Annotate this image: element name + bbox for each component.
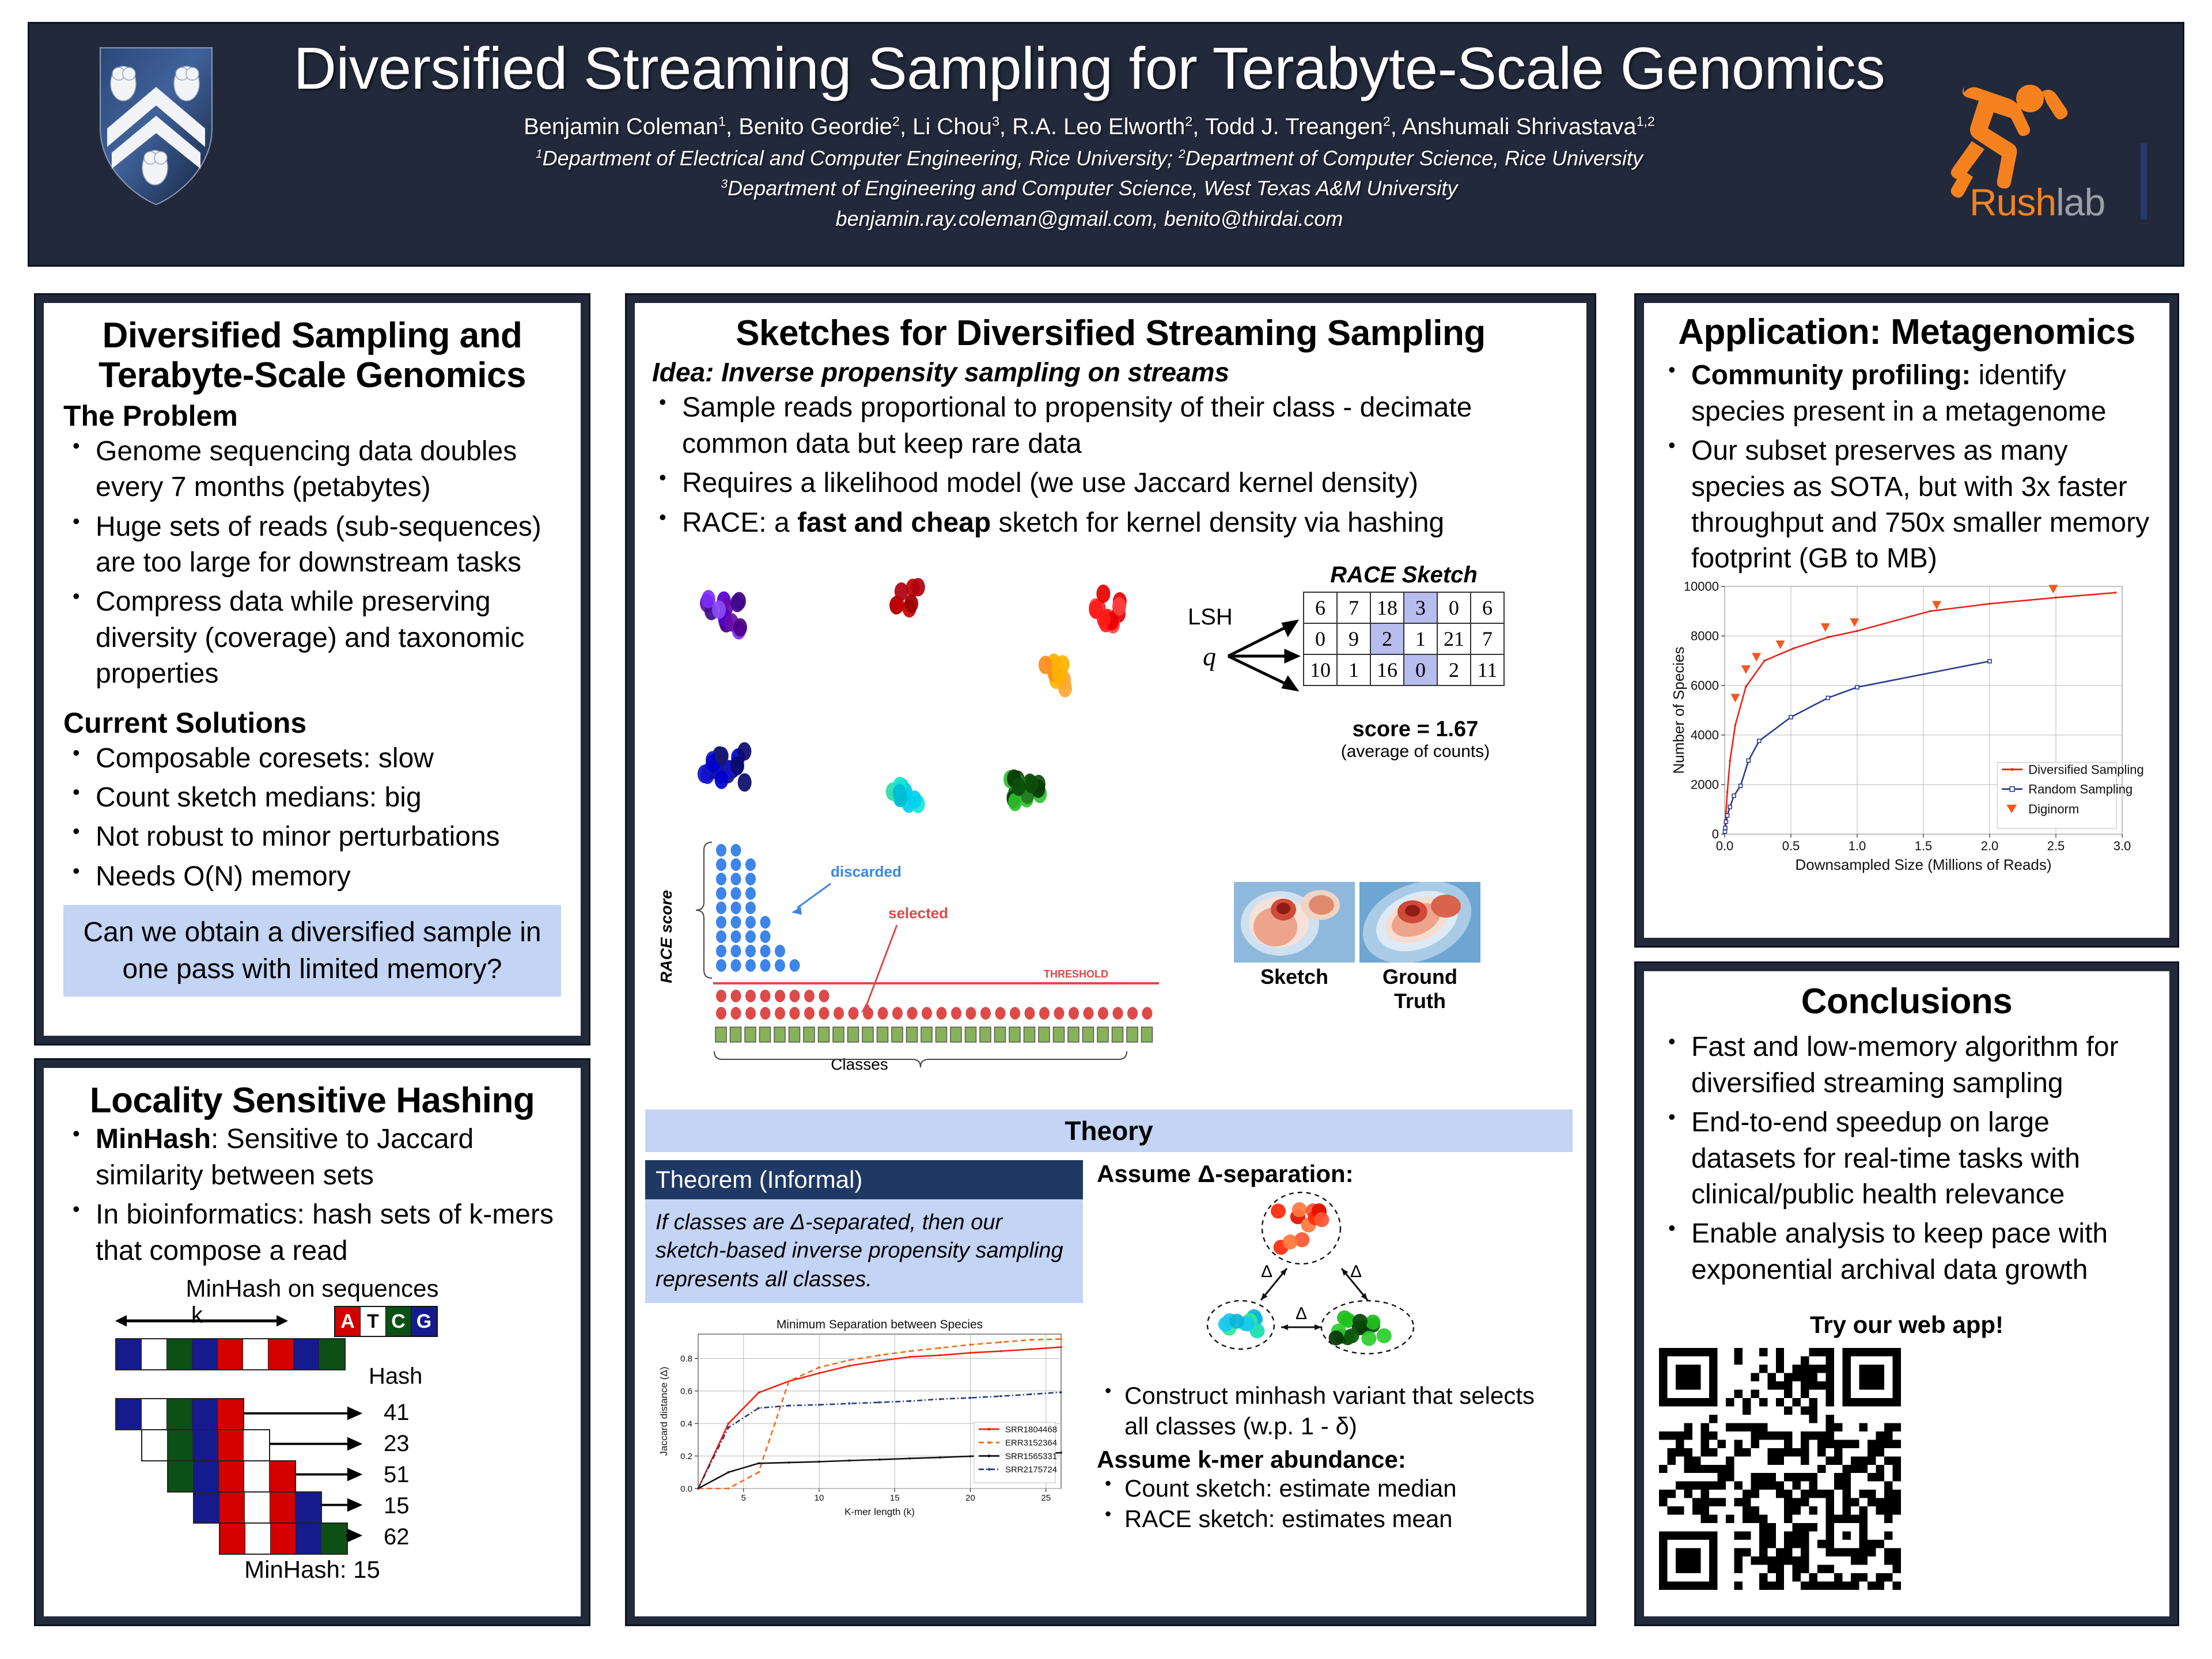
discarded-point (731, 930, 741, 943)
discarded-point (716, 887, 726, 900)
hash-value: 51 (384, 1462, 410, 1488)
race-sketch-figure: RACE Sketch LSH q 6718306092121710116021… (1188, 562, 1556, 762)
nucleotide-g: G (411, 1307, 437, 1336)
discarded-point (716, 844, 726, 857)
table-cell: 3 (1404, 592, 1437, 623)
cluster-point (715, 747, 729, 765)
svg-text:25: 25 (1041, 1493, 1051, 1503)
selected-label: selected (888, 904, 948, 922)
class-marker (819, 1027, 829, 1042)
class-marker (760, 1027, 771, 1042)
cluster-point (1112, 597, 1126, 616)
cluster-point (1229, 1314, 1244, 1329)
y-brace (696, 842, 712, 978)
list-item: Enable analysis to keep pace with expone… (1659, 1216, 2154, 1288)
discarded-point (745, 930, 756, 943)
selected-point (1127, 1007, 1138, 1020)
selected-point (819, 990, 829, 1002)
svg-text:10000: 10000 (1684, 579, 1719, 594)
panel-conclusions: Conclusions Fast and low-memory algorith… (1636, 963, 2177, 1624)
svg-text:0.0: 0.0 (680, 1484, 692, 1494)
discarded-point (760, 916, 771, 929)
table-cell: 10 (1304, 654, 1337, 685)
sketches-idea: Idea: Inverse propensity sampling on str… (652, 357, 1571, 388)
cluster-point (738, 773, 752, 791)
class-marker (715, 1027, 726, 1042)
assume-separation-heading: Assume Δ-separation: (1097, 1160, 1563, 1188)
discarded-label: discarded (831, 863, 902, 880)
class-marker (833, 1027, 844, 1042)
x-brace (714, 1051, 1127, 1067)
svg-text:SRR1804468: SRR1804468 (1005, 1425, 1057, 1435)
discarded-point (775, 945, 785, 957)
hash-value: 23 (384, 1431, 410, 1457)
selected-point (804, 990, 815, 1002)
svg-text:0.4: 0.4 (680, 1419, 692, 1429)
class-marker (745, 1027, 756, 1042)
hash-value: 41 (384, 1400, 410, 1426)
rushlab-wordmark: Rushlab (1969, 180, 2105, 224)
class-marker (862, 1027, 873, 1042)
selected-point (775, 1007, 785, 1020)
class-marker (1054, 1027, 1065, 1042)
svg-text:20: 20 (965, 1493, 975, 1503)
species-vs-downsample-chart: 0.00.51.01.52.02.53.00200040006000800010… (1661, 574, 2151, 893)
list-item: Sample reads proportional to propensity … (650, 390, 1571, 462)
theory-section: Theory Theorem (Informal) If classes are… (645, 1109, 1573, 1542)
svg-text:Diversified Sampling: Diversified Sampling (2028, 763, 2144, 777)
metagenomics-bullets: Community profiling: identify species pr… (1659, 358, 2154, 577)
table-cell: 6 (1471, 592, 1504, 623)
discarded-point (745, 873, 756, 885)
table-row: 0921217 (1304, 623, 1504, 654)
qr-title: Try our web app! (1659, 1311, 2154, 1339)
list-item: Composable coresets: slow (63, 741, 561, 777)
discarded-point (716, 873, 726, 885)
svg-text:Minimum Separation between Spe: Minimum Separation between Species (777, 1318, 983, 1331)
discarded-point (745, 916, 756, 929)
svg-text:2000: 2000 (1691, 778, 1719, 792)
list-item: End-to-end speedup on large datasets for… (1659, 1105, 2154, 1213)
cluster-point (1097, 610, 1111, 628)
svg-text:5: 5 (741, 1493, 746, 1503)
list-item: Community profiling: identify species pr… (1659, 358, 2154, 430)
cluster-point (730, 756, 744, 775)
table-row: 101160211 (1304, 654, 1504, 685)
web-app-qr-code[interactable] (1659, 1348, 1901, 1590)
nucleotide-t: T (361, 1307, 386, 1336)
kmer-window (141, 1429, 270, 1461)
discarded-point (745, 902, 756, 914)
minhash-result: MinHash: 15 (63, 1556, 561, 1584)
hash-value: 15 (384, 1493, 410, 1519)
selected-point (1069, 1007, 1079, 1020)
discarded-point (775, 959, 785, 972)
discarded-point (716, 916, 726, 929)
selected-point (878, 1007, 888, 1020)
panel-metagenomics: Application: Metagenomics Community prof… (1636, 295, 2177, 946)
class-marker (848, 1027, 859, 1042)
kmer-window (193, 1491, 322, 1524)
discarded-point (790, 959, 800, 972)
svg-text:Diginorm: Diginorm (2028, 802, 2079, 816)
assume-abundance-heading: Assume k-mer abundance: (1097, 1446, 1563, 1474)
discarded-point (760, 945, 771, 957)
svg-text:3.0: 3.0 (2113, 839, 2131, 853)
panel-lsh: Locality Sensitive Hashing MinHash: Sens… (36, 1060, 589, 1624)
delta-label: Δ (1261, 1262, 1272, 1281)
separation-bullets: Construct minhash variant that selects a… (1097, 1381, 1563, 1441)
problem-subheading-2: Current Solutions (63, 706, 561, 740)
svg-text:ERR3152364: ERR3152364 (1005, 1438, 1057, 1448)
cluster-point (1361, 1331, 1376, 1346)
selected-point (731, 1007, 741, 1020)
list-item: RACE sketch: estimates mean (1097, 1504, 1563, 1535)
selected-point (1025, 1007, 1035, 1020)
list-item: Huge sets of reads (sub-sequences) are t… (63, 509, 561, 581)
class-marker (980, 1027, 991, 1042)
list-item: Needs O(N) memory (63, 859, 561, 895)
class-marker (907, 1027, 918, 1042)
selected-point (804, 1007, 815, 1020)
svg-text:0.8: 0.8 (680, 1354, 692, 1364)
class-marker (1009, 1027, 1020, 1042)
selected-point (1010, 1007, 1020, 1020)
qr-modules (1659, 1348, 1901, 1590)
svg-text:1.5: 1.5 (1915, 839, 1933, 853)
discarded-point (760, 959, 771, 972)
class-marker (789, 1027, 800, 1042)
discarded-point (731, 916, 741, 929)
svg-text:4000: 4000 (1691, 728, 1719, 743)
class-marker (1112, 1027, 1123, 1042)
discarded-arrow-head (791, 907, 802, 915)
discarded-point (745, 959, 756, 972)
class-cluster-scatter (658, 551, 1182, 827)
poster-header: Diversified Streaming Sampling for Terab… (28, 22, 2184, 267)
nucleotide-a: A (335, 1307, 361, 1336)
selected-point (937, 1007, 947, 1020)
class-marker (892, 1027, 903, 1042)
class-marker (950, 1027, 961, 1042)
selected-point (716, 990, 726, 1002)
svg-text:10: 10 (815, 1493, 824, 1503)
selected-point (907, 1007, 918, 1020)
svg-text:0.6: 0.6 (680, 1387, 692, 1396)
svg-text:Downsampled Size (Millions of: Downsampled Size (Millions of Reads) (1795, 856, 2051, 873)
table-cell: 7 (1471, 623, 1504, 654)
discarded-point (731, 858, 741, 871)
poster-root: Diversified Streaming Sampling for Terab… (0, 0, 2212, 1659)
table-cell: 1 (1404, 623, 1437, 654)
cluster-point (1365, 1315, 1380, 1330)
delta-separation-diagram: ΔΔΔ (1097, 1188, 1546, 1378)
class-marker (995, 1027, 1006, 1042)
selected-point (716, 1007, 726, 1020)
rice-university-crest-icon (90, 42, 222, 209)
selected-point (819, 1007, 829, 1020)
minimum-separation-chart: 5101520250.00.20.40.60.8Minimum Separati… (645, 1315, 1083, 1539)
discarded-point (716, 902, 726, 914)
class-marker (1024, 1027, 1035, 1042)
list-item: Compress data while preserving diversity… (63, 584, 561, 692)
class-marker (730, 1027, 741, 1042)
table-row: 6718306 (1304, 592, 1504, 623)
list-item: In bioinformatics: hash sets of k-mers t… (63, 1197, 561, 1269)
metagenomics-heading: Application: Metagenomics (1659, 312, 2154, 352)
theorem-header: Theorem (Informal) (645, 1160, 1083, 1199)
read-sequence (115, 1338, 346, 1370)
class-marker (965, 1027, 976, 1042)
selected-point (849, 1007, 859, 1020)
ground-truth-kde-heatmap (1359, 882, 1480, 963)
sketches-heading: Sketches for Diversified Streaming Sampl… (650, 313, 1571, 353)
hash-value: 62 (384, 1524, 410, 1550)
discarded-point (716, 945, 726, 957)
class-marker (1039, 1027, 1050, 1042)
class-marker (774, 1027, 785, 1042)
discarded-point (731, 902, 741, 914)
cluster-point (891, 596, 904, 614)
svg-text:SRR1565331: SRR1565331 (1005, 1452, 1057, 1461)
nucleotide-c: C (386, 1307, 411, 1336)
list-item: Count sketch: estimate median (1097, 1474, 1563, 1504)
lsh-heading: Locality Sensitive Hashing (63, 1081, 561, 1120)
class-marker (877, 1027, 888, 1042)
problem-subheading-1: The Problem (63, 399, 561, 433)
discarded-point (716, 930, 726, 943)
table-cell: 21 (1437, 623, 1471, 654)
list-item: Genome sequencing data doubles every 7 m… (63, 434, 561, 506)
cluster-point (730, 594, 744, 612)
table-cell: 0 (1404, 654, 1437, 685)
svg-text:SRR2175724: SRR2175724 (1005, 1465, 1057, 1475)
class-marker (936, 1027, 947, 1042)
discarded-point (745, 858, 756, 871)
class-marker (1142, 1027, 1153, 1042)
kde-comparison: Sketch Ground Truth (1234, 882, 1480, 1013)
svg-text:K-mer length (k): K-mer length (k) (844, 1506, 915, 1517)
problem-bullets-2: Composable coresets: slowCount sketch me… (63, 741, 561, 895)
selected-point (1142, 1007, 1153, 1020)
k-label: k (191, 1302, 203, 1328)
panel-problem: Diversified Sampling and Terabyte-Scale … (36, 295, 589, 1044)
selected-point (834, 1007, 844, 1020)
list-item: MinHash: Sensitive to Jaccard similarity… (63, 1122, 561, 1194)
cluster-point (1337, 1310, 1352, 1325)
cluster-point (1096, 585, 1110, 603)
rushlab-word-rush: Rush (1969, 181, 2056, 224)
selected-point (745, 990, 756, 1002)
kde-right-label: Ground Truth (1359, 965, 1480, 1013)
table-cell: 2 (1437, 654, 1471, 685)
problem-bullets-1: Genome sequencing data doubles every 7 m… (63, 434, 561, 692)
list-item: Construct minhash variant that selects a… (1097, 1381, 1563, 1441)
affiliation-line-1: 1Department of Electrical and Computer E… (237, 143, 1942, 173)
lsh-bullets: MinHash: Sensitive to Jaccard similarity… (63, 1122, 561, 1269)
discarded-point (731, 873, 741, 885)
list-item: Count sketch medians: big (63, 780, 561, 816)
kmer-window (167, 1460, 296, 1493)
selected-point (951, 1007, 961, 1020)
affiliation-line-2: 3Department of Engineering and Computer … (237, 173, 1942, 203)
cluster-point (908, 790, 922, 809)
conclusions-heading: Conclusions (1659, 982, 2154, 1021)
list-item: Requires a likelihood model (we use Jacc… (650, 465, 1571, 501)
discarded-point (731, 887, 741, 900)
theory-band-title: Theory (645, 1109, 1573, 1152)
selected-point (1113, 1007, 1123, 1020)
table-cell: 0 (1304, 623, 1337, 654)
table-cell: 2 (1370, 623, 1404, 654)
discarded-point (716, 858, 726, 871)
cluster-point (1344, 1328, 1359, 1343)
svg-text:6000: 6000 (1691, 679, 1719, 693)
kmer-window (219, 1522, 348, 1555)
cluster-point (712, 600, 726, 619)
table-cell: 1 (1337, 654, 1370, 685)
cluster-point (911, 578, 925, 596)
table-cell: 11 (1471, 654, 1504, 685)
cluster-point (1377, 1328, 1392, 1343)
list-item: Not robust to minor perturbations (63, 819, 561, 855)
cluster-point (1292, 1202, 1307, 1217)
selected-point (995, 1007, 1006, 1020)
cluster-point (1271, 1203, 1286, 1218)
discarded-point (731, 844, 741, 857)
selected-point (760, 1007, 771, 1020)
selected-point (980, 1007, 991, 1020)
table-cell: 6 (1304, 592, 1337, 623)
discarded-point (731, 959, 741, 972)
race-sketch-title: RACE Sketch (1251, 562, 1556, 588)
selected-point (1098, 1007, 1108, 1020)
svg-text:1.0: 1.0 (1849, 839, 1866, 853)
title-block: Diversified Streaming Sampling for Terab… (237, 35, 1942, 234)
sketch-kde-heatmap (1234, 882, 1355, 963)
discarded-point (760, 930, 771, 943)
page-title: Diversified Streaming Sampling for Terab… (237, 35, 1942, 101)
dotplot-ylabel: RACE score (657, 890, 675, 983)
discarded-point (745, 887, 756, 900)
svg-text:8000: 8000 (1691, 629, 1719, 643)
dotplot-xlabel: Classes (831, 1055, 888, 1073)
lsh-arrows-icon (1224, 611, 1304, 698)
selected-point (775, 990, 785, 1002)
selected-point (790, 1007, 800, 1020)
svg-text:15: 15 (890, 1493, 900, 1503)
delta-label: Δ (1350, 1262, 1362, 1281)
sketches-bullets: Sample reads proportional to propensity … (650, 390, 1571, 541)
race-score: score = 1.67 (1274, 717, 1556, 742)
discarded-arrow (797, 884, 831, 908)
threshold-label: THRESHOLD (1044, 968, 1108, 980)
class-marker (1068, 1027, 1079, 1042)
svg-text:Number of Species: Number of Species (1670, 646, 1687, 774)
table-cell: 0 (1437, 592, 1471, 623)
cluster-point (715, 771, 729, 789)
cluster-point (1314, 1212, 1329, 1227)
discarded-point (716, 959, 726, 972)
selected-arrow (865, 925, 897, 1009)
selected-point (745, 1007, 756, 1020)
panel-sketches: Sketches for Diversified Streaming Sampl… (627, 295, 1594, 1624)
list-item: RACE: a fast and cheap sketch for kernel… (650, 505, 1571, 541)
contact-emails: benjamin.ray.coleman@gmail.com, benito@t… (237, 204, 1942, 234)
svg-text:2.0: 2.0 (1981, 839, 1999, 853)
class-marker (1083, 1027, 1094, 1042)
theorem-body: If classes are Δ-separated, then our ske… (645, 1199, 1083, 1303)
cluster-point (893, 784, 907, 802)
delta-label: Δ (1296, 1304, 1307, 1323)
selected-point (966, 1007, 976, 1020)
list-item: Our subset preserves as many species as … (1659, 433, 2154, 577)
selected-point (1084, 1007, 1094, 1020)
discarded-point (731, 945, 741, 957)
runner-icon (1929, 57, 2102, 201)
cluster-point (1039, 656, 1052, 674)
class-marker (1127, 1027, 1138, 1042)
svg-text:0.2: 0.2 (680, 1452, 692, 1461)
cluster-point (1283, 1234, 1298, 1249)
svg-text:0.5: 0.5 (1782, 839, 1800, 853)
rushlab-word-lab: lab (2056, 181, 2105, 224)
cluster-point (1353, 1314, 1368, 1329)
selected-point (790, 990, 800, 1002)
kmer-window (115, 1398, 244, 1430)
class-marker (804, 1027, 815, 1042)
hash-column-header: Hash (369, 1363, 422, 1389)
svg-text:Random Sampling: Random Sampling (2028, 782, 2133, 797)
class-marker (921, 1027, 932, 1042)
query-label: q (1203, 641, 1216, 672)
race-score-subtitle: (average of counts) (1274, 742, 1556, 762)
rushlab-bar (2141, 143, 2147, 219)
list-item: Fast and low-memory algorithm for divers… (1659, 1029, 2154, 1101)
selected-point (1054, 1007, 1065, 1020)
table-cell: 9 (1337, 623, 1370, 654)
svg-text:0: 0 (1712, 827, 1719, 842)
cluster-point (733, 618, 747, 637)
race-score-dotplot: THRESHOLDClassesRACE scorediscardedselec… (641, 821, 1182, 1092)
cluster-point (1025, 775, 1039, 793)
minhash-figure: k A T C G Hash (63, 1306, 561, 1554)
cluster-point (1012, 778, 1025, 796)
selected-point (922, 1007, 932, 1020)
svg-text:Jaccard distance (Δ): Jaccard distance (Δ) (658, 1367, 669, 1456)
cluster-point (904, 594, 918, 613)
problem-heading: Diversified Sampling and Terabyte-Scale … (63, 316, 561, 396)
abundance-bullets: Count sketch: estimate medianRACE sketch… (1097, 1474, 1563, 1534)
table-cell: 7 (1337, 592, 1370, 623)
class-marker (1097, 1027, 1108, 1042)
table-cell: 16 (1370, 654, 1404, 685)
research-question-callout: Can we obtain a diversified sample in on… (63, 905, 561, 997)
discarded-point (745, 945, 756, 957)
selected-point (892, 1007, 903, 1020)
rushlab-logo: Rushlab (1929, 57, 2148, 230)
selected-point (1039, 1007, 1050, 1020)
svg-text:2.5: 2.5 (2047, 839, 2065, 853)
table-cell: 18 (1370, 592, 1404, 623)
kde-left-label: Sketch (1234, 965, 1355, 1013)
nucleotide-legend: A T C G (334, 1306, 438, 1337)
selected-point (731, 990, 741, 1002)
selected-point (760, 990, 771, 1002)
minhash-figure-title: MinHash on sequences (63, 1275, 561, 1302)
cluster-point (1052, 666, 1066, 685)
conclusions-bullets: Fast and low-memory algorithm for divers… (1659, 1029, 2154, 1288)
